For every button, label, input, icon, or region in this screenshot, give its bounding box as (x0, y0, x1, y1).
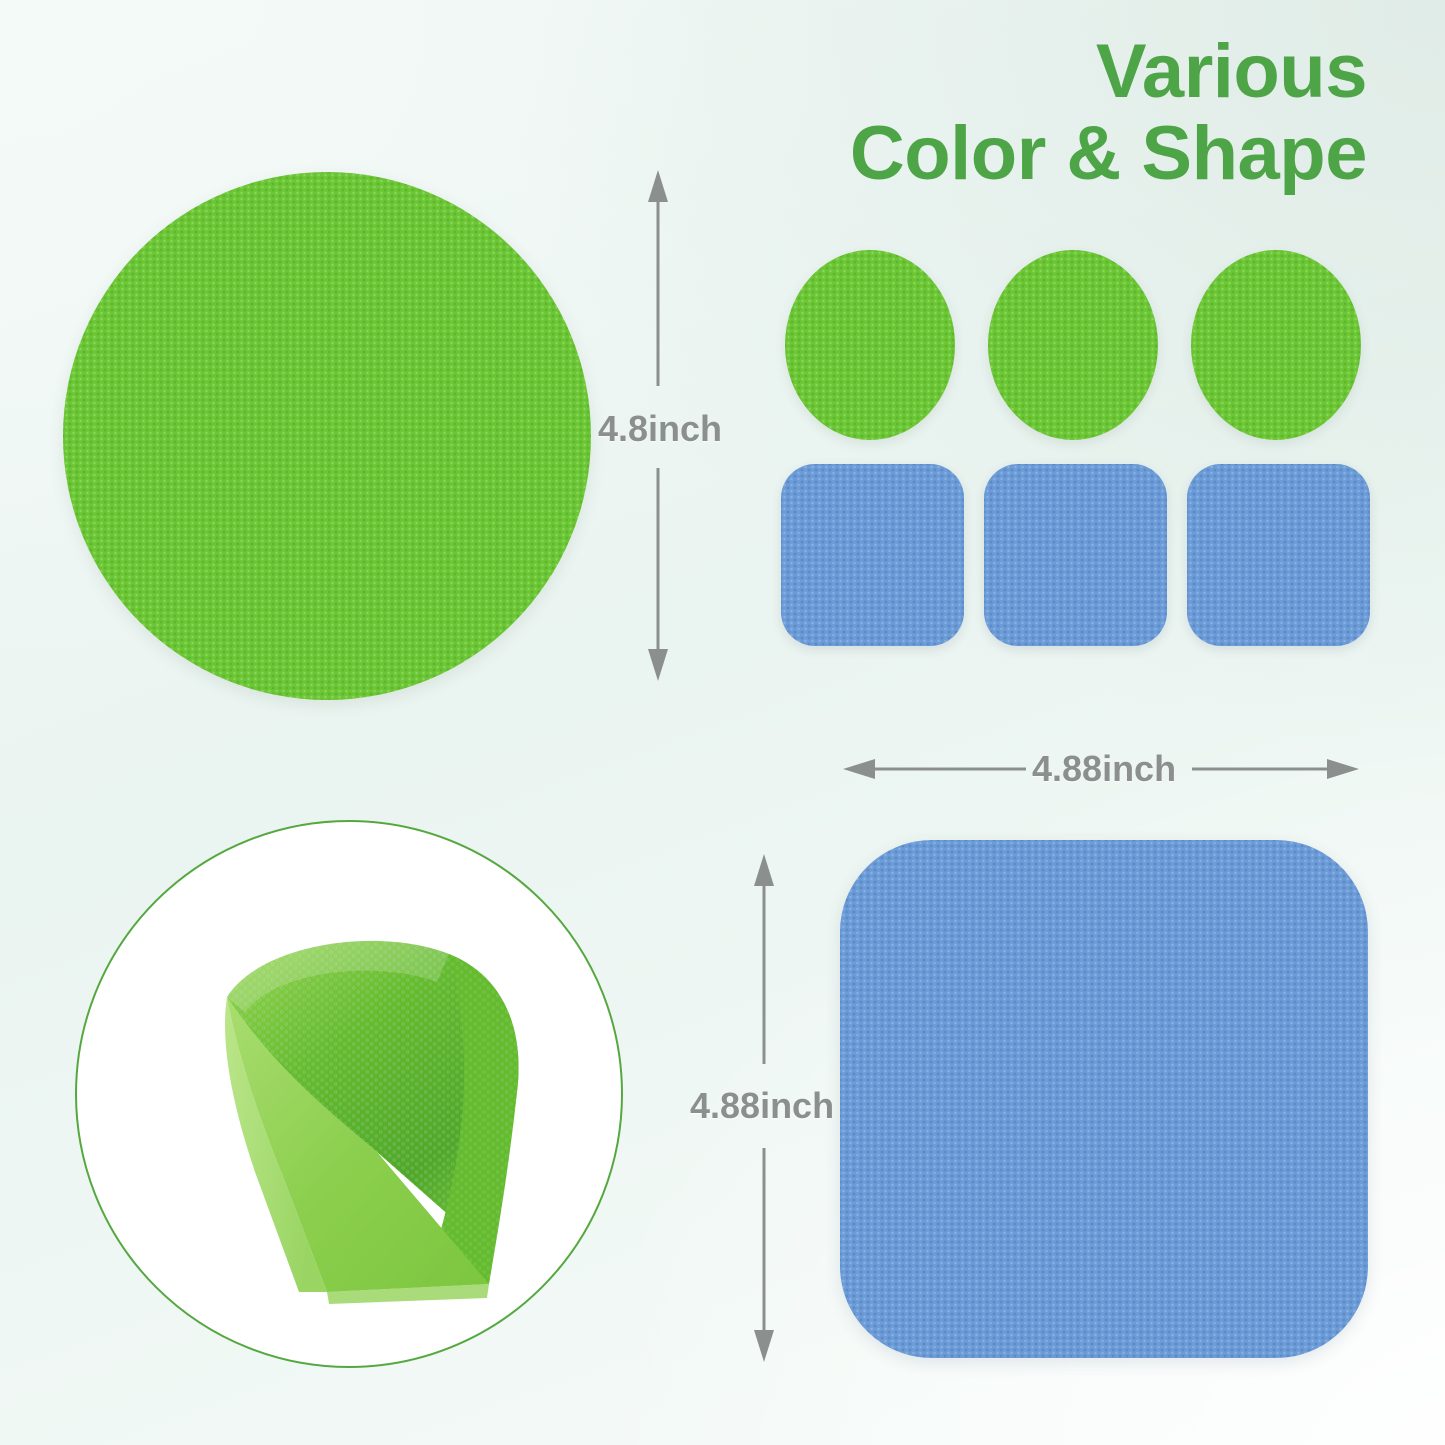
page-title: Various Color & Shape (850, 34, 1367, 192)
round-green-mat (63, 172, 591, 700)
rolled-mat-illustration (77, 822, 623, 1368)
page-title-line-2: Color & Shape (850, 116, 1367, 192)
square-width-label: 4.88inch (1032, 748, 1176, 790)
green-circle-1 (785, 250, 955, 440)
page-title-line-1: Various (850, 34, 1367, 110)
blue-square-3 (1187, 464, 1370, 646)
square-height-label: 4.88inch (690, 1085, 834, 1127)
rolled-mat-closeup (75, 820, 623, 1368)
product-infographic: Various Color & Shape 4.8inch 4.88inch (0, 0, 1445, 1445)
disc-height-label: 4.8inch (598, 408, 722, 450)
square-blue-mat (840, 840, 1368, 1358)
green-circle-3 (1191, 250, 1361, 440)
green-circle-2 (988, 250, 1158, 440)
blue-square-1 (781, 464, 964, 646)
blue-square-2 (984, 464, 1167, 646)
